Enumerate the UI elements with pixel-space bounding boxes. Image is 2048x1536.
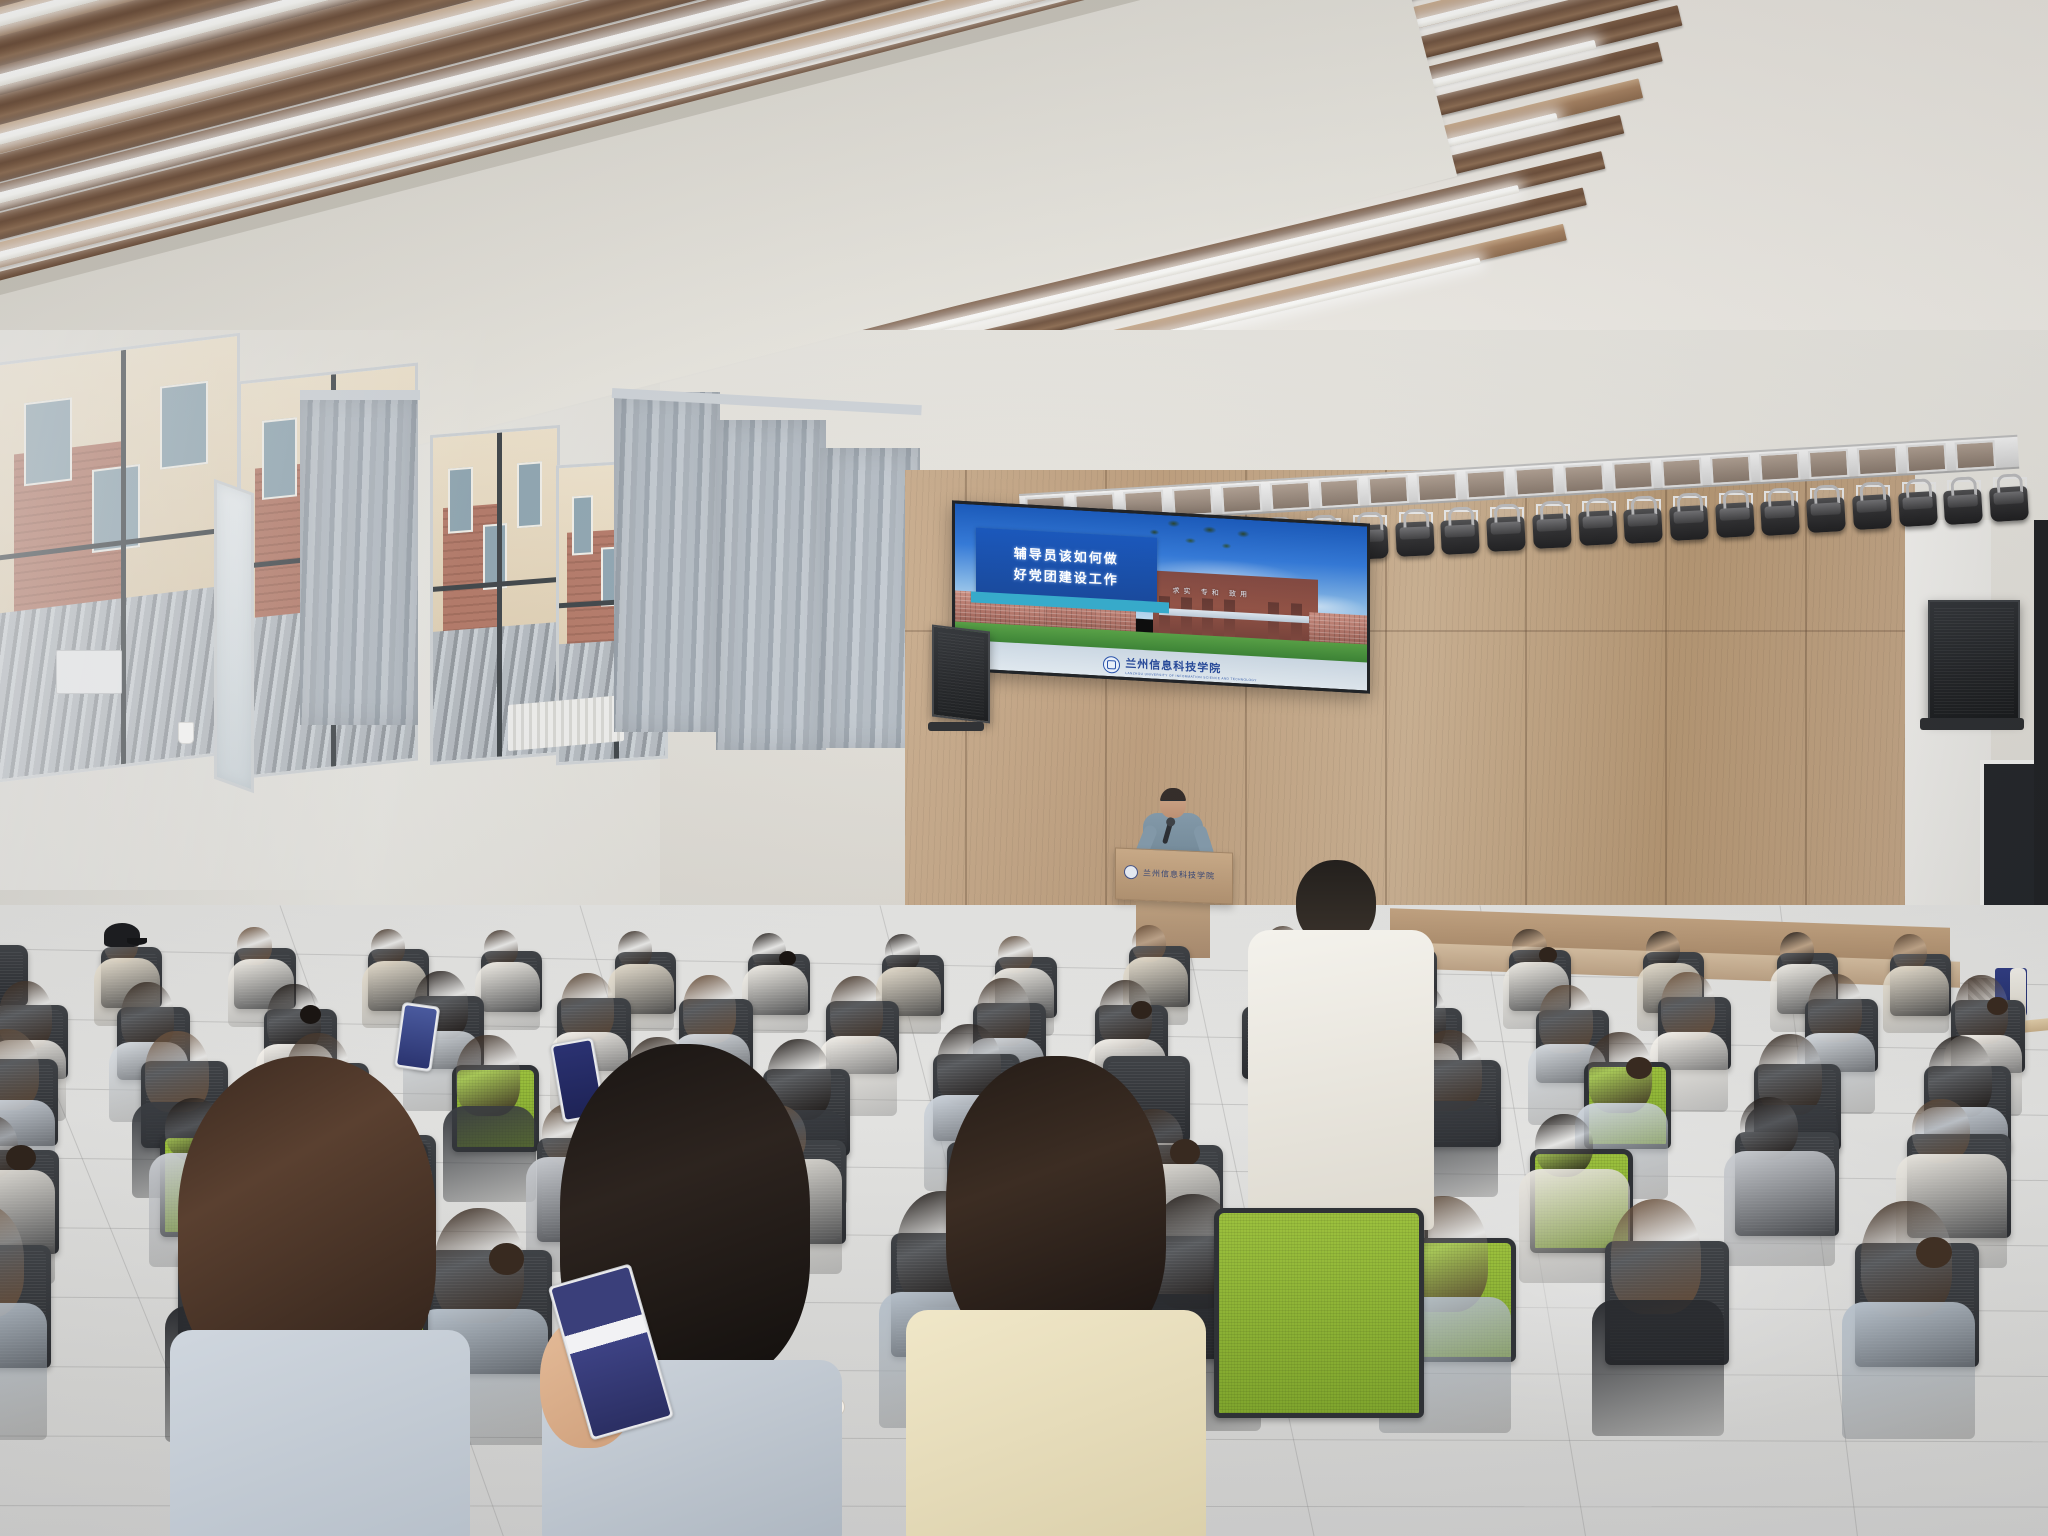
curtain-panel <box>716 420 826 750</box>
person-head <box>683 975 736 1043</box>
exterior-window <box>24 398 72 487</box>
window-mullion <box>121 350 126 765</box>
truss-bay <box>1857 446 1899 476</box>
par-can-light <box>1669 505 1709 541</box>
truss-bay <box>1417 472 1459 502</box>
led-video-wall: 求实 专和 致用 辅导员该如何做 好党团建设工作 兰州信息科技学院 LANZHO… <box>952 500 1370 693</box>
truss-bay <box>1808 449 1850 479</box>
speaker-mount-bracket <box>928 722 984 731</box>
person-torso <box>1592 1300 1724 1437</box>
hair-bun <box>1539 947 1557 963</box>
par-can-light <box>1898 491 1938 527</box>
hair-bun <box>1170 1139 1200 1165</box>
par-can-light <box>1761 500 1801 536</box>
par-can-light <box>1943 489 1983 525</box>
truss-bay <box>1368 475 1410 505</box>
truss-bay <box>1563 463 1605 493</box>
wood-panel-seam <box>1525 470 1527 970</box>
person-torso <box>170 1330 470 1536</box>
hair-bun <box>1626 1057 1651 1079</box>
truss-bay <box>1221 484 1263 514</box>
truss-bay <box>1710 455 1752 485</box>
phone-screen <box>397 1005 437 1069</box>
window[interactable] <box>0 333 240 783</box>
person-head <box>1912 1099 1970 1162</box>
person-head <box>1661 972 1714 1040</box>
person-torso <box>1842 1302 1974 1439</box>
truss-bay <box>1514 466 1556 496</box>
laptop[interactable] <box>56 650 122 694</box>
truss-bay <box>1270 481 1312 511</box>
university-seal-icon <box>1124 865 1138 880</box>
curtain-panel <box>300 395 418 725</box>
exterior-window <box>483 523 508 590</box>
truss-bay <box>1759 452 1801 482</box>
par-can-light <box>1486 516 1526 552</box>
hair-bun <box>1916 1237 1952 1269</box>
truss-bay <box>1612 460 1654 490</box>
exterior-window <box>448 467 473 534</box>
curtain-panel <box>614 392 720 732</box>
speaker-mount-bracket <box>1920 718 2024 730</box>
line-array-speaker <box>1928 600 2020 720</box>
wood-panel-seam <box>1665 470 1667 970</box>
person-head <box>561 973 614 1041</box>
person-torso <box>1724 1151 1835 1265</box>
person-head <box>1611 1199 1701 1315</box>
truss-bay <box>1319 478 1361 508</box>
exterior-window <box>517 462 542 529</box>
lectern-institution-label: 兰州信息科技学院 <box>1143 868 1215 882</box>
truss-bay <box>1661 458 1703 488</box>
person-torso <box>0 1303 47 1440</box>
screen-tree-branch <box>1140 510 1260 571</box>
wood-panel-seam <box>1805 470 1807 970</box>
audience-chair[interactable] <box>1214 1208 1424 1418</box>
exterior-window <box>160 381 208 470</box>
hair-bun <box>300 1005 321 1024</box>
par-can-light <box>1715 502 1755 538</box>
person-torso <box>906 1310 1206 1536</box>
exterior-window <box>572 496 593 556</box>
par-can-light <box>1532 513 1572 549</box>
truss-bay <box>1465 469 1507 499</box>
person-head <box>456 1035 520 1116</box>
screen-title-banner: 辅导员该如何做 好党团建设工作 <box>976 528 1157 604</box>
open-window-leaf[interactable] <box>214 479 254 794</box>
person-head <box>1539 985 1592 1053</box>
person-torso <box>1248 930 1434 1230</box>
lectern: 兰州信息科技学院 <box>1115 847 1233 904</box>
truss-bay <box>1955 440 1997 470</box>
eyeglasses-icon <box>1161 800 1185 806</box>
par-can-light <box>1441 519 1481 555</box>
par-can-light <box>1578 510 1618 546</box>
truss-bay <box>1906 443 1948 473</box>
par-can-light <box>1395 521 1434 557</box>
par-can-light <box>1623 508 1663 544</box>
paper-cup <box>178 722 194 744</box>
university-seal-icon <box>1103 655 1120 673</box>
par-can-light <box>1806 497 1846 533</box>
person-head <box>1808 974 1861 1042</box>
exterior-window <box>262 417 297 499</box>
screen-title-line-2: 好党团建设工作 <box>1014 564 1119 589</box>
person-torso <box>443 1106 536 1202</box>
par-can-light <box>1852 494 1892 530</box>
hair-bun <box>6 1145 36 1171</box>
par-can-light <box>1989 486 2029 522</box>
person-head <box>1535 1114 1593 1177</box>
person-head <box>830 976 883 1044</box>
line-array-speaker <box>932 624 990 723</box>
hair-bun <box>489 1243 525 1275</box>
person-torso <box>475 962 541 1030</box>
curtain-rail <box>300 390 420 400</box>
person-torso <box>1883 966 1949 1034</box>
window-mullion <box>497 432 502 756</box>
lecture-hall-scene: 求实 专和 致用 辅导员该如何做 好党团建设工作 兰州信息科技学院 LANZHO… <box>0 0 2048 1536</box>
